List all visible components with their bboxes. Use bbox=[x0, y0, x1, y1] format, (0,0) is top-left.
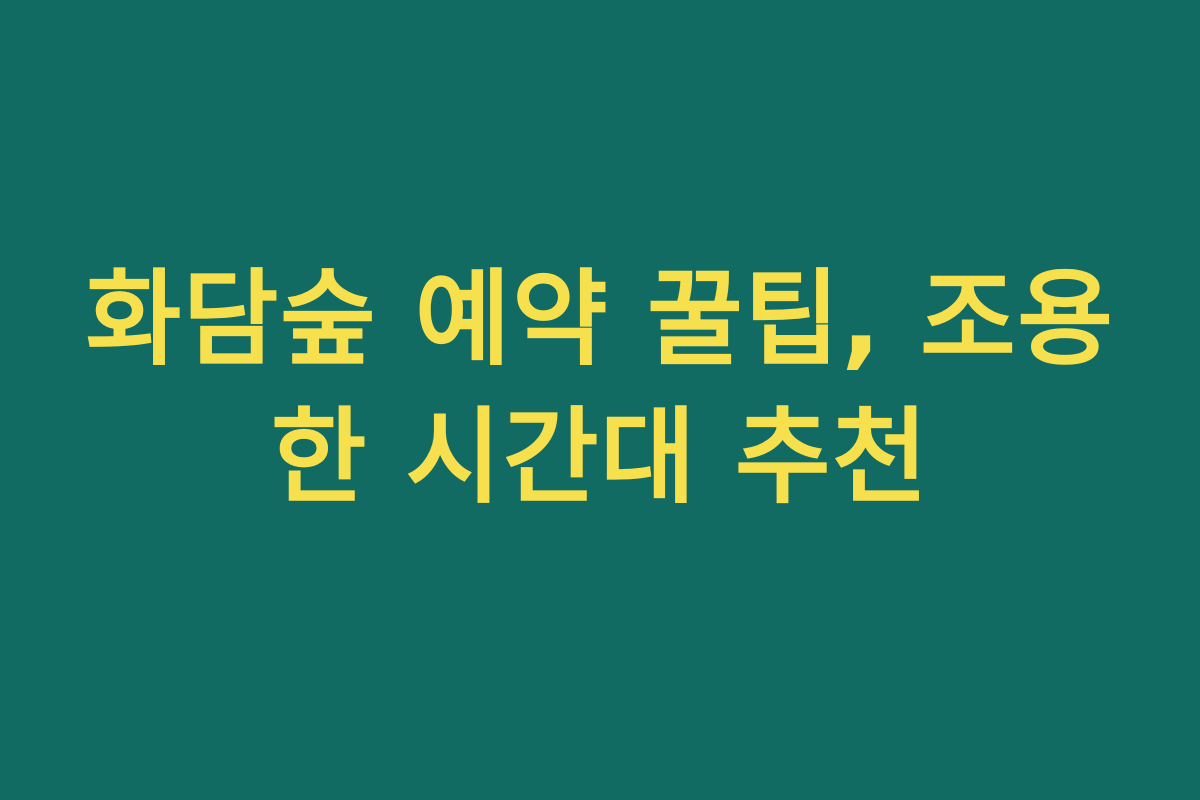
headline-line-2: 한 시간대 추천 bbox=[40, 388, 1160, 526]
headline-line-1: 화담숲 예약 꿀팁, 조용 bbox=[40, 250, 1160, 388]
page-title: 화담숲 예약 꿀팁, 조용 한 시간대 추천 bbox=[0, 250, 1200, 526]
thumbnail-card: 화담숲 예약 꿀팁, 조용 한 시간대 추천 bbox=[0, 0, 1200, 800]
